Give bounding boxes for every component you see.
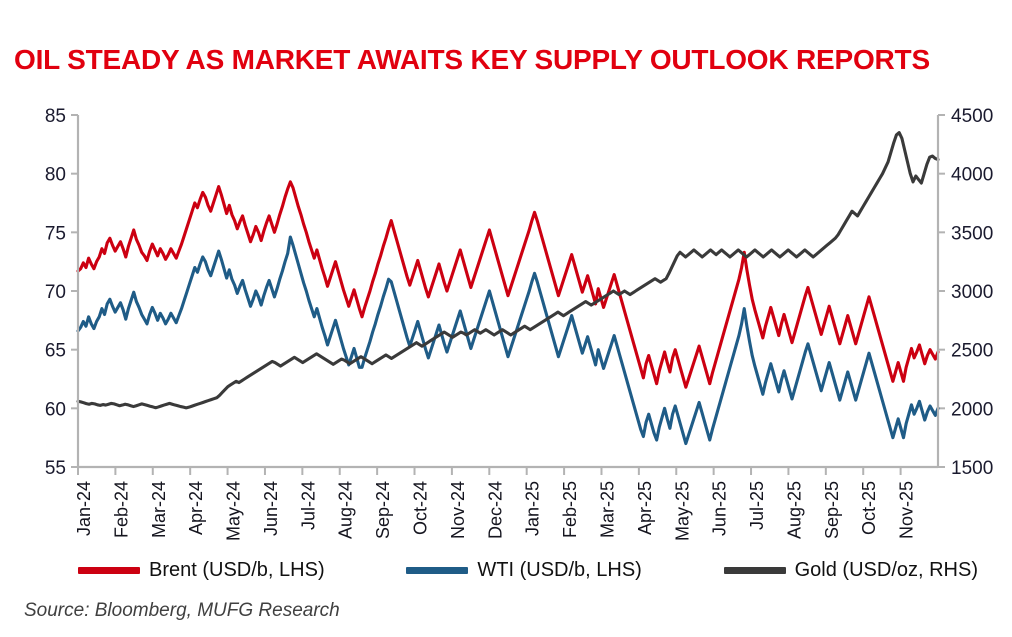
x-axis-tick-label: Jul-25 [747, 481, 767, 530]
x-axis-tick-label: Dec-24 [485, 481, 505, 539]
left-axis-tick-label: 55 [45, 458, 66, 479]
x-axis-tick-label: Oct-25 [859, 481, 879, 535]
legend-item-gold[interactable]: Gold (USD/oz, RHS) [724, 559, 978, 582]
legend-swatch-wti [406, 567, 468, 574]
chart-page: OIL STEADY AS MARKET AWAITS KEY SUPPLY O… [0, 0, 1012, 637]
chart-canvas: 55606570758085 1500200025003000350040004… [0, 0, 1012, 637]
right-axis-tick-label: 2000 [951, 399, 993, 420]
chart-legend: Brent (USD/b, LHS) WTI (USD/b, LHS) Gold… [78, 553, 978, 587]
x-axis-tick-label: Sep-24 [373, 481, 393, 539]
x-axis-labels: Jan-24Feb-24Mar-24Apr-24May-24Jun-24Jul-… [74, 481, 917, 541]
x-axis-tick-label: Sep-25 [822, 481, 842, 539]
right-axis-tick-label: 4500 [951, 106, 993, 127]
right-axis-labels: 1500200025003000350040004500 [951, 106, 993, 479]
left-axis-tick-label: 70 [45, 282, 66, 303]
x-axis-tick-label: Aug-24 [336, 481, 356, 539]
x-axis-tick-label: Jan-24 [74, 481, 94, 536]
x-axis-tick-label: Mar-24 [149, 481, 169, 538]
right-axis-tick-label: 1500 [951, 458, 993, 479]
left-axis-tick-label: 65 [45, 341, 66, 362]
right-axis-tick-label: 3500 [951, 223, 993, 244]
x-axis-tick-label: Feb-25 [560, 481, 580, 538]
left-axis-tick-label: 75 [45, 223, 66, 244]
x-axis-tick-label: Jul-24 [298, 481, 318, 530]
line-chart: 55606570758085 1500200025003000350040004… [0, 0, 1012, 637]
x-axis-tick-label: Aug-25 [784, 481, 804, 539]
x-axis-tick-label: Apr-25 [635, 481, 655, 535]
x-axis-tick-label: Nov-24 [448, 481, 468, 539]
legend-item-brent[interactable]: Brent (USD/b, LHS) [78, 559, 325, 582]
right-axis-tick-label: 2500 [951, 341, 993, 362]
x-axis-tick-label: Jan-25 [523, 481, 543, 536]
right-axis-tick-label: 4000 [951, 165, 993, 186]
legend-label-wti: WTI (USD/b, LHS) [477, 559, 641, 582]
x-axis-tick-label: Apr-24 [186, 481, 206, 535]
x-axis-tick-label: Oct-24 [411, 481, 431, 535]
x-axis-tick-label: Jun-24 [261, 481, 281, 536]
legend-item-wti[interactable]: WTI (USD/b, LHS) [406, 559, 641, 582]
x-axis-tick-label: May-25 [672, 481, 692, 541]
right-axis-tick-label: 3000 [951, 282, 993, 303]
source-note: Source: Bloomberg, MUFG Research [24, 600, 340, 622]
left-axis-tick-label: 85 [45, 106, 66, 127]
x-axis-tick-label: Feb-24 [111, 481, 131, 538]
legend-label-gold: Gold (USD/oz, RHS) [795, 559, 978, 582]
left-axis-tick-label: 60 [45, 399, 66, 420]
x-axis-tick-label: Mar-25 [597, 481, 617, 538]
legend-swatch-gold [724, 567, 786, 574]
series-wti [78, 237, 938, 444]
left-axis-labels: 55606570758085 [45, 106, 66, 479]
legend-swatch-brent [78, 567, 140, 574]
x-axis-tick-label: May-24 [224, 481, 244, 541]
legend-label-brent: Brent (USD/b, LHS) [149, 559, 325, 582]
series-group [78, 133, 938, 444]
left-axis-tick-label: 80 [45, 165, 66, 186]
x-axis-tick-label: Jun-25 [710, 481, 730, 536]
x-axis-tick-label: Nov-25 [897, 481, 917, 539]
